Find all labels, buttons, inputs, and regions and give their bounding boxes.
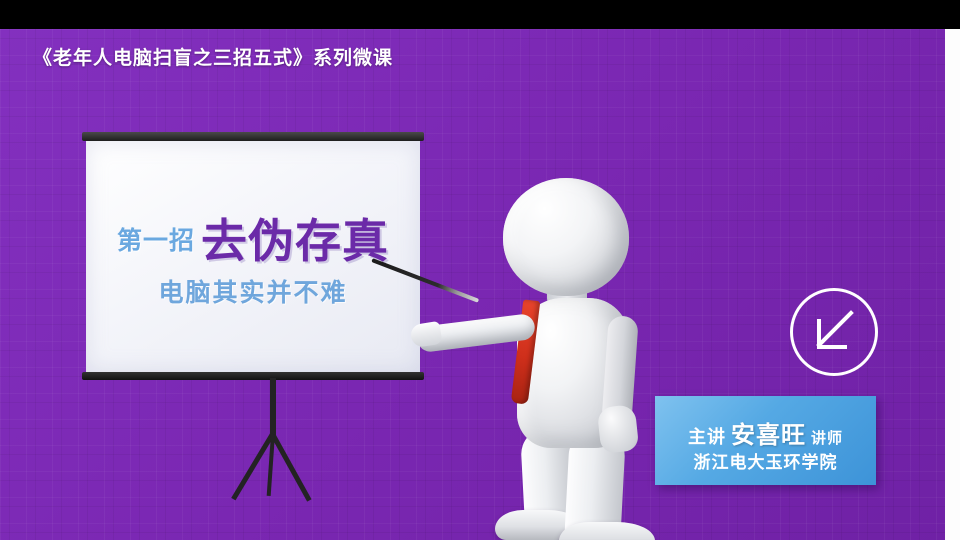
headline-text: 去伪存真 bbox=[201, 214, 389, 268]
screen-content-area: 第一招去伪存真 电脑其实并不难 bbox=[93, 145, 413, 368]
screen-top-bar bbox=[82, 132, 424, 141]
presenter-name: 安喜旺 bbox=[731, 421, 806, 449]
slide-canvas: 《老年人电脑扫盲之三招五式》系列微课 第一招去伪存真 电脑其实并不难 bbox=[0, 0, 960, 540]
screen-surface: 第一招去伪存真 电脑其实并不难 bbox=[86, 141, 420, 372]
figure-hand-right bbox=[597, 404, 640, 454]
arrow-down-left-circle-icon bbox=[790, 288, 878, 376]
letterbox-top-bar bbox=[0, 0, 960, 29]
presenter-role: 讲师 bbox=[811, 429, 843, 447]
tripod-stand-icon bbox=[212, 378, 342, 508]
figure-head bbox=[503, 178, 629, 296]
figure-shoe-front bbox=[559, 522, 655, 540]
step-badge: 第一招 bbox=[117, 226, 195, 255]
projection-screen: 第一招去伪存真 电脑其实并不难 bbox=[82, 132, 424, 380]
presenter-prefix: 主讲 bbox=[688, 427, 726, 448]
presenter-organization: 浙江电大玉环学院 bbox=[655, 448, 876, 473]
tripod-pole bbox=[270, 378, 276, 440]
presenter-figure-icon bbox=[455, 178, 670, 540]
subheadline-text: 电脑其实并不难 bbox=[93, 273, 413, 309]
presenter-name-row: 主讲安喜旺讲师 bbox=[655, 415, 876, 450]
presenter-credit-box: 主讲安喜旺讲师 浙江电大玉环学院 bbox=[655, 396, 876, 485]
tripod-leg-right bbox=[270, 433, 311, 502]
right-white-edge bbox=[945, 29, 960, 540]
series-title: 《老年人电脑扫盲之三招五式》系列微课 bbox=[33, 43, 393, 70]
screen-headline-row: 第一招去伪存真 bbox=[93, 205, 413, 271]
